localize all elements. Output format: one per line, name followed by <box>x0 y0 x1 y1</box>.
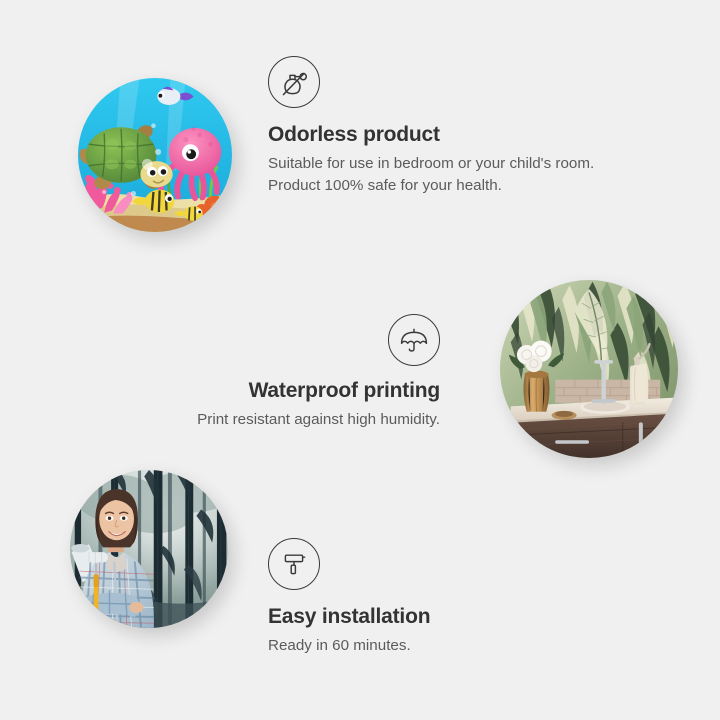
feature-showcase: Odorless product Suitable for use in bed… <box>0 0 720 720</box>
umbrella-icon <box>388 314 440 366</box>
feature-description: Suitable for use in bedroom or your chil… <box>268 153 608 196</box>
feature-description: Ready in 60 minutes. <box>268 635 598 657</box>
feature-title: Waterproof printing <box>110 378 440 404</box>
feature-waterproof-printing: Waterproof printing Print resistant agai… <box>110 314 440 431</box>
woman-with-paint-roller-forest-photo <box>70 470 228 628</box>
no-odor-spray-bottle-icon <box>268 56 320 108</box>
feature-description: Print resistant against high humidity. <box>110 409 440 431</box>
cartoon-underwater-scene-photo <box>78 78 232 232</box>
paint-roller-icon <box>268 538 320 590</box>
bathroom-tropical-wallpaper-photo <box>500 280 678 458</box>
feature-easy-installation: Easy installation Ready in 60 minutes. <box>268 538 598 657</box>
feature-title: Odorless product <box>268 122 608 148</box>
feature-odorless-product: Odorless product Suitable for use in bed… <box>268 56 608 196</box>
feature-title: Easy installation <box>268 604 598 630</box>
